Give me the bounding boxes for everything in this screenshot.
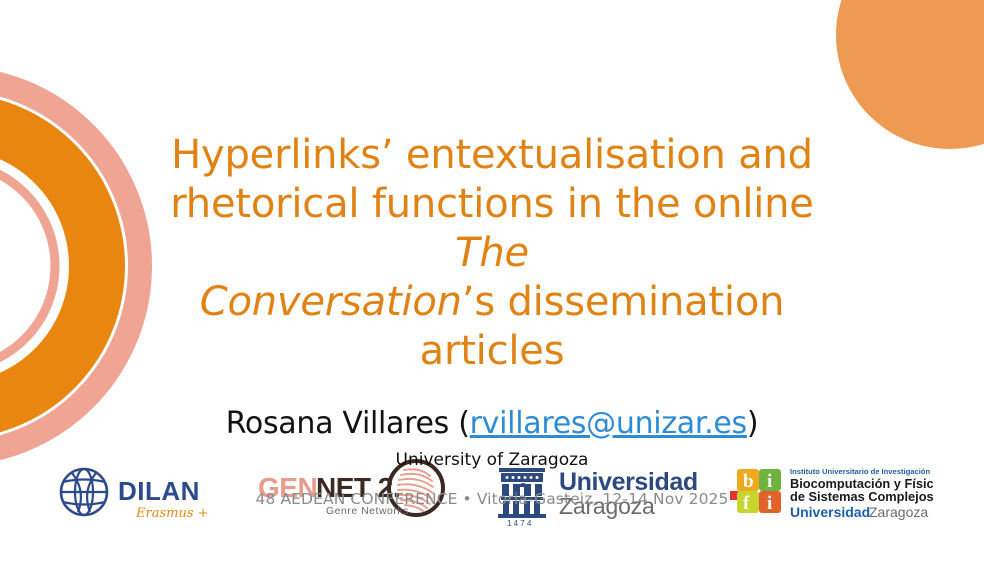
author-line: Rosana Villares (rvillares@unizar.es)	[226, 407, 759, 441]
title-publication-conversation: Conversation	[200, 279, 462, 325]
title-publication-the: The	[455, 230, 529, 276]
title-line-2-text: rhetorical functions in the online	[170, 181, 813, 227]
author-name: Rosana Villares (	[226, 406, 470, 441]
page-title: Hyperlinks’ entextualisation and rhetori…	[132, 131, 852, 376]
author-email-link[interactable]: rvillares@unizar.es	[470, 406, 747, 441]
conference-info: 48 AEDEAN CONFERENCE • Vitoria-Gasteiz, …	[256, 490, 729, 508]
title-line-1: Hyperlinks’ entextualisation and	[171, 132, 813, 178]
affiliation: University of Zaragoza	[396, 450, 589, 470]
author-paren-close: )	[747, 406, 758, 441]
title-line-3-text: ’s dissemination articles	[420, 279, 785, 374]
slide-content: Hyperlinks’ entextualisation and rhetori…	[0, 0, 984, 561]
